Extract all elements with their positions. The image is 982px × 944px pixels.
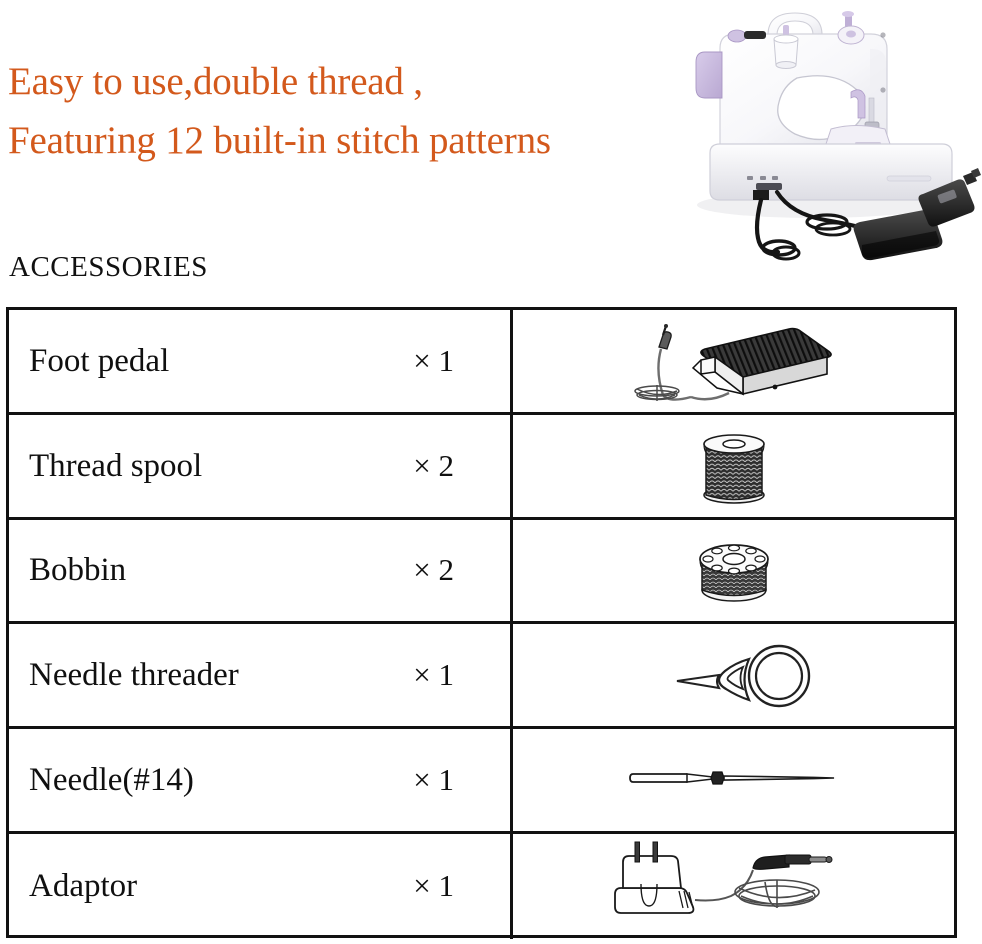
accessory-name-cell: Foot pedal × 1 (9, 310, 513, 412)
accessory-quantity: × 1 (413, 761, 454, 799)
accessory-quantity: × 2 (413, 447, 454, 485)
accessory-name: Needle threader (29, 656, 413, 694)
table-row: Adaptor × 1 (9, 834, 954, 939)
table-row: Bobbin × 2 (9, 520, 954, 625)
accessory-name: Needle(#14) (29, 761, 413, 799)
accessory-name-cell: Adaptor × 1 (9, 834, 513, 939)
adaptor-icon (599, 836, 869, 936)
accessories-table: Foot pedal × 1 (6, 307, 957, 938)
needle-icon (619, 750, 849, 810)
accessory-image-cell (513, 415, 954, 517)
accessory-image-cell (513, 520, 954, 622)
foot-pedal-icon (609, 315, 859, 407)
accessory-image-cell (513, 834, 954, 939)
table-row: Foot pedal × 1 (9, 310, 954, 415)
accessory-name-cell: Needle threader × 1 (9, 624, 513, 726)
headline-line-1: Easy to use,double thread , (8, 52, 708, 111)
accessory-name-cell: Bobbin × 2 (9, 520, 513, 622)
accessory-image-cell (513, 624, 954, 726)
headline: Easy to use,double thread , Featuring 12… (8, 52, 708, 170)
thread-spool-icon (679, 420, 789, 512)
accessory-name: Bobbin (29, 551, 413, 589)
accessories-section-title: ACCESSORIES (9, 250, 208, 284)
accessory-name: Adaptor (29, 867, 413, 905)
accessory-image-cell (513, 310, 954, 412)
accessory-quantity: × 2 (413, 551, 454, 589)
headline-line-2: Featuring 12 built-in stitch patterns (8, 111, 708, 170)
table-row: Thread spool × 2 (9, 415, 954, 520)
accessory-quantity: × 1 (413, 342, 454, 380)
accessory-name-cell: Thread spool × 2 (9, 415, 513, 517)
accessory-name: Foot pedal (29, 342, 413, 380)
needle-threader-icon (629, 629, 839, 721)
accessory-name: Thread spool (29, 447, 413, 485)
accessory-quantity: × 1 (413, 867, 454, 905)
accessory-image-cell (513, 729, 954, 831)
accessory-quantity: × 1 (413, 656, 454, 694)
table-row: Needle(#14) × 1 (9, 729, 954, 834)
accessory-name-cell: Needle(#14) × 1 (9, 729, 513, 831)
bobbin-icon (674, 524, 794, 616)
table-row: Needle threader × 1 (9, 624, 954, 729)
